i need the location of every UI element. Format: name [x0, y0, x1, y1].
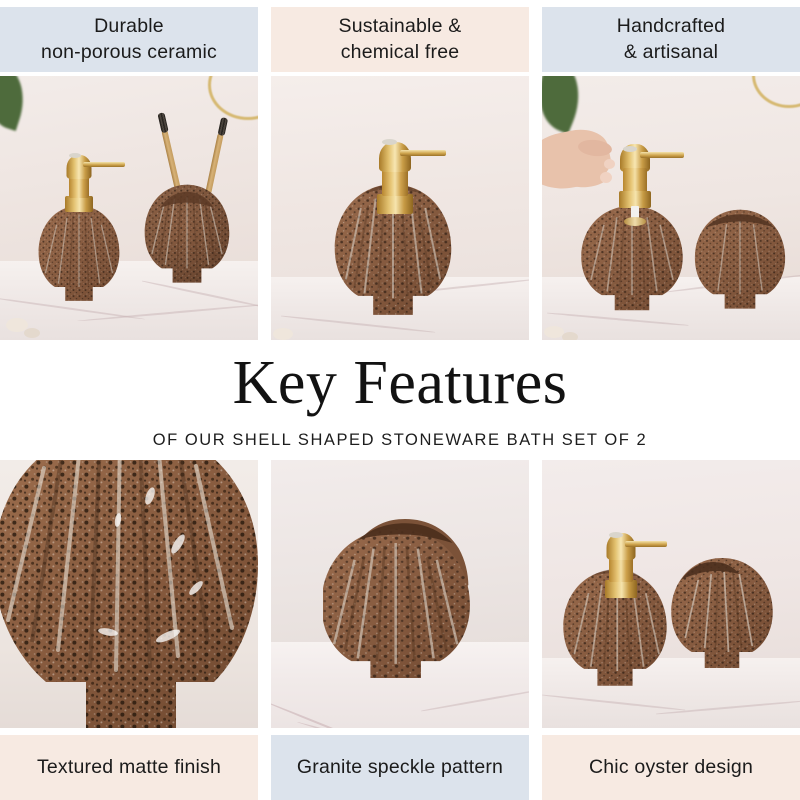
bottom-photo-2 [271, 460, 529, 728]
shell-body [323, 512, 481, 678]
top-banner-3: Handcrafted & artisanal [542, 7, 800, 72]
key-features-infographic: Durable non-porous ceramic Sustainable &… [0, 0, 800, 800]
toothbrush-holder [668, 556, 776, 674]
shell-body [692, 208, 788, 314]
photo-dispenser-set [542, 460, 800, 728]
shell-body [36, 204, 122, 306]
pump-spout [640, 152, 684, 158]
pump-spout [400, 150, 446, 156]
pump-neck [69, 176, 89, 198]
pump-cap [382, 139, 397, 145]
photo-texture-closeup [0, 460, 258, 728]
bottom-banner-2-label: Granite speckle pattern [297, 755, 503, 781]
top-banner-3-line2: & artisanal [624, 40, 718, 66]
pump-neck [382, 168, 408, 196]
decorative-pebble [562, 332, 578, 340]
top-banner-2-line1: Sustainable & [339, 14, 462, 40]
top-banner-2-line2: chemical free [341, 40, 460, 66]
bottom-banner-3-label: Chic oyster design [589, 755, 753, 781]
toothbrush-holder [692, 208, 788, 314]
bottom-banner-1-label: Textured matte finish [37, 755, 221, 781]
bottom-banner-1: Textured matte finish [0, 735, 258, 800]
decorative-pebble [273, 328, 293, 340]
pump-collar [377, 194, 413, 214]
top-photo-3 [542, 76, 800, 340]
pump-spout [83, 162, 125, 167]
pump-cap [609, 532, 623, 538]
pump-collar [605, 580, 637, 598]
top-banner-1: Durable non-porous ceramic [0, 7, 258, 72]
photo-single-dispenser [271, 76, 529, 340]
page-subtitle: OF OUR SHELL SHAPED STONEWARE BATH SET O… [0, 431, 800, 450]
decorative-pebble [24, 328, 40, 338]
top-banner-1-line1: Durable [94, 14, 164, 40]
toothbrush-holder [142, 183, 232, 288]
pump-cap [69, 153, 81, 158]
photo-dispenser-and-holder [0, 76, 258, 340]
top-banner-3-line1: Handcrafted [617, 14, 725, 40]
hand-fingernail [600, 172, 612, 183]
gold-pump [600, 516, 642, 598]
gold-pump [62, 140, 96, 212]
pump-head [379, 142, 411, 172]
shell-macro-texture [0, 460, 258, 728]
bottom-photo-1 [0, 460, 258, 728]
page-title: Key Features [0, 352, 800, 414]
bottom-photo-3 [542, 460, 800, 728]
photo-toothbrush-holder [271, 460, 529, 728]
pump-spout [625, 541, 667, 547]
bottom-banner-2: Granite speckle pattern [271, 735, 529, 800]
pump-collar [65, 196, 93, 212]
top-photo-1 [0, 76, 258, 340]
center-title-block: Key Features OF OUR SHELL SHAPED STONEWA… [0, 352, 800, 450]
hand-fingernail [604, 159, 615, 169]
top-banner-1-line2: non-porous ceramic [41, 40, 217, 66]
soap-dispenser [36, 204, 122, 306]
top-photo-2 [271, 76, 529, 340]
pump-head [67, 155, 92, 179]
pump-neck [609, 557, 633, 582]
pump-gasket [624, 217, 646, 226]
toothbrush-holder [323, 512, 481, 678]
shell-body [668, 556, 776, 674]
gold-pump [372, 122, 418, 214]
hand [542, 126, 642, 200]
bottom-banner-3: Chic oyster design [542, 735, 800, 800]
photo-hand-removing-pump [542, 76, 800, 340]
decorative-pebble [544, 326, 564, 338]
shell-body [142, 183, 232, 288]
top-banner-2: Sustainable & chemical free [271, 7, 529, 72]
